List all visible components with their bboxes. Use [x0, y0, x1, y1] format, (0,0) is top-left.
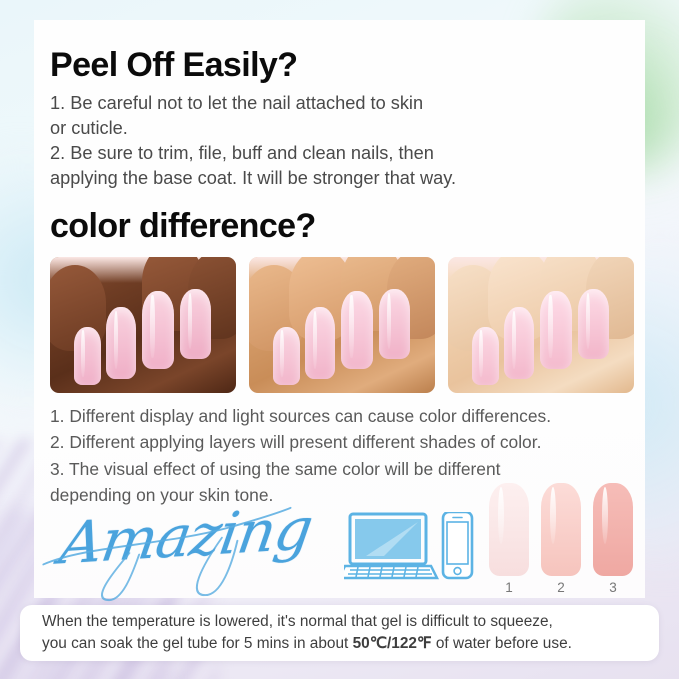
shade-swatch-1: 1: [489, 483, 529, 595]
nail-gloss-highlight: [550, 487, 556, 545]
peel-off-instructions: 1. Be careful not to let the nail attach…: [50, 91, 629, 191]
shade-nail-1: [489, 483, 529, 576]
peel-off-heading: Peel Off Easily?: [50, 20, 629, 85]
temperature-note-card: When the temperature is lowered, it's no…: [20, 605, 659, 661]
shade-swatch-group: 1 2 3: [489, 483, 633, 595]
nail-photo-dark-skin: [50, 257, 236, 393]
nail-cluster-medium: [249, 257, 435, 393]
page-root: Peel Off Easily? 1. Be careful not to le…: [0, 0, 679, 679]
nail-cluster-dark: [50, 257, 236, 393]
shade-label-1: 1: [489, 580, 529, 595]
note-line-2-after: of water before use.: [432, 635, 572, 652]
nail-gloss-highlight: [498, 487, 504, 545]
note-line-2-before: you can soak the gel tube for 5 mins in …: [42, 635, 353, 652]
laptop-icon: [344, 514, 437, 578]
color-difference-heading: color difference?: [50, 191, 629, 246]
nail-gloss-highlight: [602, 487, 608, 545]
device-icons-group: [344, 512, 474, 589]
temperature-note-text: When the temperature is lowered, it's no…: [20, 611, 590, 655]
nail-photo-medium-skin: [249, 257, 435, 393]
shade-label-2: 2: [541, 580, 581, 595]
shade-swatch-2: 2: [541, 483, 581, 595]
nail-photo-light-skin: [448, 257, 634, 393]
shade-label-3: 3: [593, 580, 633, 595]
note-temperature-value: 50℃/122℉: [353, 635, 432, 652]
note-line-1: When the temperature is lowered, it's no…: [42, 613, 553, 630]
nail-cluster-light: [448, 257, 634, 393]
phone-icon: [443, 512, 472, 578]
shade-nail-3: [593, 483, 633, 576]
shade-nail-2: [541, 483, 581, 576]
nail-photo-row: [50, 257, 629, 393]
shade-swatch-3: 3: [593, 483, 633, 595]
